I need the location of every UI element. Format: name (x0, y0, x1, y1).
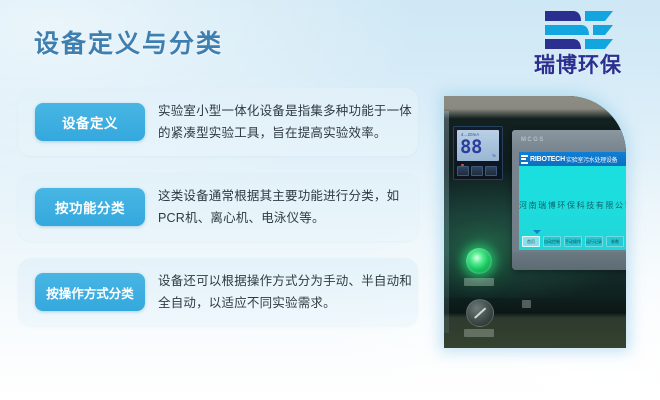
machine-photo: 4...20mA 88 % MCGS RIBOTECH 实验室污水处理设 (444, 96, 626, 348)
page-title: 设备定义与分类 (34, 24, 223, 60)
hmi-topbar: RIBOTECH 实验室污水处理设备 (519, 152, 626, 166)
cabinet-edge-highlight (444, 111, 449, 333)
hmi-tab-records[interactable]: 运行记录 (585, 236, 603, 247)
badge-section-2[interactable]: 按功能分类 (35, 188, 145, 226)
hmi-touch-panel: MCGS RIBOTECH 实验室污水处理设备 河南瑞博环保科技有限公司 首页 … (512, 130, 626, 270)
hmi-brand-name: RIBOTECH (530, 156, 565, 163)
hmi-screen[interactable]: RIBOTECH 实验室污水处理设备 河南瑞博环保科技有限公司 首页 自动控制 … (519, 152, 626, 250)
meter-button-3[interactable] (485, 166, 497, 176)
body-text-section-3: 设备还可以根据操作方式分为手动、半自动和全自动，以适应不同实验需求。 (158, 270, 416, 314)
badge-section-3[interactable]: 按操作方式分类 (35, 273, 145, 311)
hmi-logo-icon (521, 155, 528, 164)
body-text-section-1: 实验室小型一体化设备是指集多种功能于一体的紧凑型实验工具，旨在提高实验效率。 (158, 100, 416, 144)
rotary-selector-knob[interactable] (466, 299, 494, 327)
hmi-tab-bar: 首页 自动控制 手动操作 运行记录 参数 (519, 236, 626, 247)
power-indicator-lamp-icon (466, 248, 492, 274)
knob-pointer-icon (474, 307, 486, 318)
knob-label-plate (464, 329, 494, 337)
hmi-brand-plate: MCGS (521, 137, 545, 143)
content-list: 设备定义 实验室小型一体化设备是指集多种功能于一体的紧凑型实验工具，旨在提高实验… (0, 88, 430, 343)
logo-text: 瑞博环保 (508, 55, 648, 77)
hmi-company-name: 河南瑞博环保科技有限公司 (519, 200, 626, 211)
list-item: 按操作方式分类 设备还可以根据操作方式分为手动、半自动和全自动，以适应不同实验需… (0, 258, 430, 326)
lamp-label-plate (464, 278, 494, 286)
company-logo: 瑞博环保 (508, 8, 648, 77)
digital-meter-screen: 4...20mA 88 % (457, 130, 499, 161)
hmi-tab-home[interactable]: 首页 (522, 236, 540, 247)
body-text-section-2: 这类设备通常根据其主要功能进行分类，如PCR机、离心机、电泳仪等。 (158, 185, 416, 229)
digital-meter: 4...20mA 88 % (453, 126, 503, 180)
meter-value: 88 (460, 137, 482, 157)
meter-button-1[interactable] (457, 166, 469, 176)
floor-plate (522, 300, 531, 308)
hmi-tab-params[interactable]: 参数 (606, 236, 624, 247)
hmi-subtitle: 实验室污水处理设备 (566, 155, 617, 164)
slide-root: 瑞博环保 设备定义与分类 设备定义 实验室小型一体化设备是指集多种功能于一体的紧… (0, 0, 660, 400)
hmi-arrow-icon (533, 230, 541, 234)
hmi-tab-manual[interactable]: 手动操作 (564, 236, 582, 247)
meter-unit: % (492, 153, 496, 158)
meter-button-2[interactable] (471, 166, 483, 176)
list-item: 设备定义 实验室小型一体化设备是指集多种功能于一体的紧凑型实验工具，旨在提高实验… (0, 88, 430, 156)
ribotech-stripes-logo-icon (535, 8, 621, 54)
list-item: 按功能分类 这类设备通常根据其主要功能进行分类，如PCR机、离心机、电泳仪等。 (0, 173, 430, 241)
hmi-tab-auto[interactable]: 自动控制 (543, 236, 561, 247)
hmi-bezel-bottom (512, 252, 626, 270)
badge-section-1[interactable]: 设备定义 (35, 103, 145, 141)
